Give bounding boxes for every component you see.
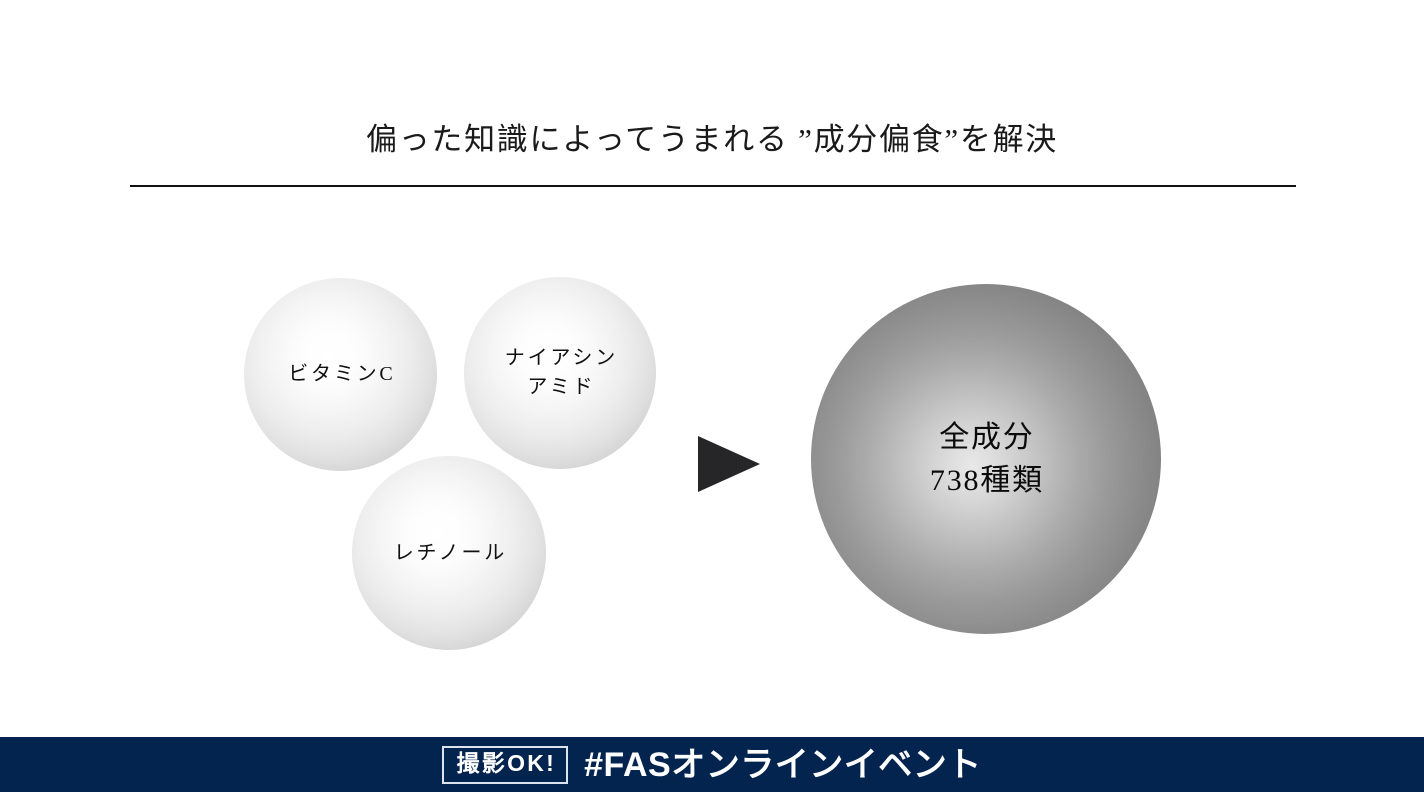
- photo-ok-badge-label: 撮影OK!: [454, 752, 556, 775]
- result-sphere-label-line-2: 738種類: [928, 459, 1044, 503]
- result-sphere-label: 全成分 738種類: [928, 416, 1044, 503]
- title-divider-rule: [130, 185, 1296, 187]
- event-hashtag-label: #FASオンラインイベント: [584, 748, 982, 782]
- ingredient-sphere-label: ビタミンC: [285, 360, 395, 389]
- slide-title: 偏った知識によってうまれる ”成分偏食”を解決: [0, 121, 1424, 160]
- ingredient-sphere-label: レチノール: [391, 539, 507, 568]
- result-sphere-label-line-1: 全成分: [928, 416, 1044, 460]
- result-sphere-all-ingredients: 全成分 738種類: [811, 284, 1161, 634]
- ingredient-sphere-niacinamide: ナイアシン アミド: [464, 277, 656, 469]
- play-triangle-right-icon: [698, 436, 760, 492]
- bottom-event-banner: 撮影OK! #FASオンラインイベント: [0, 737, 1424, 792]
- banner-content: 撮影OK! #FASオンラインイベント: [442, 746, 982, 784]
- ingredient-sphere-label: ナイアシン アミド: [502, 344, 618, 402]
- ingredient-sphere-label-line-1: ナイアシン: [502, 344, 618, 373]
- ingredient-sphere-label-line-2: アミド: [502, 373, 618, 402]
- ingredient-sphere-retinol: レチノール: [352, 456, 546, 650]
- ingredient-sphere-vitamin-c: ビタミンC: [244, 278, 437, 471]
- photo-ok-badge: 撮影OK!: [442, 746, 568, 784]
- presentation-slide: 偏った知識によってうまれる ”成分偏食”を解決 ビタミンC ナイアシン アミド …: [0, 0, 1424, 792]
